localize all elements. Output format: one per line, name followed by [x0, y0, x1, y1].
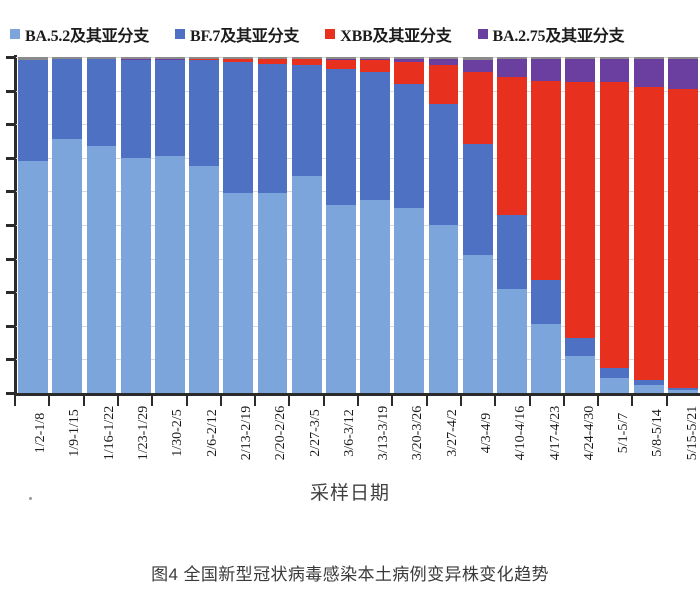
bar-segment: [429, 59, 459, 66]
bar-segment: [565, 59, 595, 83]
bar-2/20-2/26: [258, 57, 288, 393]
bar-segment: [634, 59, 664, 88]
bar-4/24-4/30: [565, 57, 595, 393]
bar-segment: [258, 64, 288, 193]
bar-4/3-4/9: [463, 57, 493, 393]
bar-segment: [531, 81, 561, 281]
bar-segment: [429, 225, 459, 393]
x-axis-label-text: 1/16-1/22: [102, 406, 118, 460]
bar-segment: [531, 324, 561, 393]
bar-3/13-3/19: [360, 57, 390, 393]
bar-segment: [463, 144, 493, 255]
bar-segment: [87, 146, 117, 393]
bar-segment: [429, 65, 459, 104]
bar-segment: [634, 385, 664, 393]
y-axis-tick: [6, 291, 15, 294]
bar-segment: [121, 60, 151, 157]
bar-4/10-4/16: [497, 57, 527, 393]
chart-legend: BA.5.2及其亚分支BF.7及其亚分支XBB及其亚分支BA.2.75及其亚分支: [0, 20, 700, 48]
y-axis-tick: [6, 224, 15, 227]
bar-segment: [394, 84, 424, 208]
bar-segment: [531, 280, 561, 324]
bar-1/23-1/29: [121, 57, 151, 393]
y-axis-ticks: [6, 57, 14, 393]
bar-segment: [600, 368, 630, 378]
bar-3/6-3/12: [326, 57, 356, 393]
bar-segment: [565, 356, 595, 393]
bar-segment: [121, 158, 151, 393]
bar-4/17-4/23: [531, 57, 561, 393]
bar-segment: [463, 72, 493, 144]
legend-label-ba52: BA.5.2及其亚分支: [25, 22, 149, 46]
x-axis-label-text: 1/2-1/8: [33, 413, 49, 453]
bar-segment: [497, 77, 527, 215]
legend-label-ba275: BA.2.75及其亚分支: [493, 22, 625, 46]
legend-item-bf7: BF.7及其亚分支: [175, 22, 299, 46]
bar-3/27-4/2: [429, 57, 459, 393]
bar-segment: [326, 69, 356, 205]
bar-1/2-1/8: [18, 57, 48, 393]
bar-segment: [600, 82, 630, 368]
y-axis-tick: [6, 358, 15, 361]
y-axis-tick: [6, 325, 15, 328]
x-axis-label-text: 5/15-5/21: [685, 406, 700, 460]
bar-segment: [189, 166, 219, 393]
bar-segment: [531, 59, 561, 81]
bar-segment: [87, 59, 117, 146]
x-axis-label-text: 5/1-5/7: [616, 413, 632, 453]
x-axis-label-text: 1/30-2/5: [170, 409, 186, 456]
bar-segment: [394, 208, 424, 393]
bar-5/1-5/7: [600, 57, 630, 393]
bar-segment: [668, 59, 698, 89]
x-axis-label-text: 1/23-1/29: [136, 406, 152, 460]
x-axis-label-text: 4/3-4/9: [479, 413, 495, 453]
x-axis-label-text: 1/9-1/15: [67, 409, 83, 456]
x-axis-label-text: 2/27-3/5: [308, 409, 324, 456]
bar-5/15-5/21: [668, 57, 698, 393]
y-axis-tick: [6, 157, 15, 160]
x-axis-label-text: 3/13-3/19: [376, 406, 392, 460]
stray-mark: [29, 497, 32, 500]
legend-label-xbb: XBB及其亚分支: [340, 22, 451, 46]
bar-segment: [18, 161, 48, 393]
legend-item-ba52: BA.5.2及其亚分支: [10, 22, 149, 46]
bar-segment: [360, 60, 390, 72]
legend-label-bf7: BF.7及其亚分支: [190, 22, 299, 46]
bar-segment: [258, 193, 288, 393]
bar-segment: [326, 60, 356, 68]
bar-3/20-3/26: [394, 57, 424, 393]
bar-segment: [565, 338, 595, 356]
figure-caption: 图4 全国新型冠状病毒感染本土病例变异株变化趋势: [0, 560, 700, 585]
bar-segment: [326, 205, 356, 393]
y-axis-tick: [6, 90, 15, 93]
bar-1/9-1/15: [52, 57, 82, 393]
bar-segment: [52, 139, 82, 393]
legend-swatch-icon-xbb: [325, 29, 335, 39]
bar-segment: [429, 104, 459, 225]
bar-segment: [497, 289, 527, 393]
x-axis-label-text: 4/17-4/23: [548, 406, 564, 460]
bar-segment: [223, 62, 253, 193]
y-axis-tick: [6, 190, 15, 193]
x-axis-title: 采样日期: [0, 478, 700, 505]
x-axis-label-text: 3/20-3/26: [410, 406, 426, 460]
bar-segment: [600, 378, 630, 393]
legend-swatch-icon-ba275: [478, 29, 488, 39]
x-axis-label-text: 4/10-4/16: [513, 406, 529, 460]
bar-2/13-2/19: [223, 57, 253, 393]
bar-2/27-3/5: [292, 57, 322, 393]
legend-swatch-icon-ba52: [10, 29, 20, 39]
bar-2/6-2/12: [189, 57, 219, 393]
bar-segment: [668, 89, 698, 388]
bar-segment: [463, 60, 493, 72]
bar-segment: [189, 60, 219, 166]
legend-item-ba275: BA.2.75及其亚分支: [478, 22, 625, 46]
bar-segment: [600, 59, 630, 83]
x-axis-label-text: 2/13-2/19: [239, 406, 255, 460]
bar-segment: [292, 65, 322, 176]
bar-segment: [360, 72, 390, 200]
x-axis-label-text: 5/8-5/14: [650, 409, 666, 456]
bar-segment: [634, 87, 664, 379]
x-axis-label-text: 3/6-3/12: [342, 409, 358, 456]
bar-segment: [18, 60, 48, 161]
bar-segment: [497, 215, 527, 289]
x-axis-label-text: 2/20-2/26: [273, 406, 289, 460]
legend-item-xbb: XBB及其亚分支: [325, 22, 451, 46]
bar-segment: [52, 59, 82, 140]
x-axis-label-text: 4/24-4/30: [582, 406, 598, 460]
bar-1/16-1/22: [87, 57, 117, 393]
x-axis-label-text: 3/27-4/2: [445, 409, 461, 456]
legend-swatch-icon-bf7: [175, 29, 185, 39]
bar-segment: [463, 255, 493, 393]
x-axis-label-text: 2/6-2/12: [205, 409, 221, 456]
bar-segment: [155, 60, 185, 156]
bar-segment: [497, 59, 527, 77]
bar-segment: [292, 59, 322, 66]
y-axis-tick: [6, 123, 15, 126]
bar-1/30-2/5: [155, 57, 185, 393]
bar-series-container: [16, 57, 700, 393]
plot-area: [14, 57, 700, 393]
bar-segment: [394, 62, 424, 84]
bar-segment: [155, 156, 185, 393]
bar-segment: [565, 82, 595, 337]
y-axis-tick: [6, 258, 15, 261]
bar-segment: [223, 193, 253, 393]
bar-5/8-5/14: [634, 57, 664, 393]
bar-segment: [292, 176, 322, 393]
bar-segment: [360, 200, 390, 393]
y-axis-tick: [6, 56, 15, 59]
